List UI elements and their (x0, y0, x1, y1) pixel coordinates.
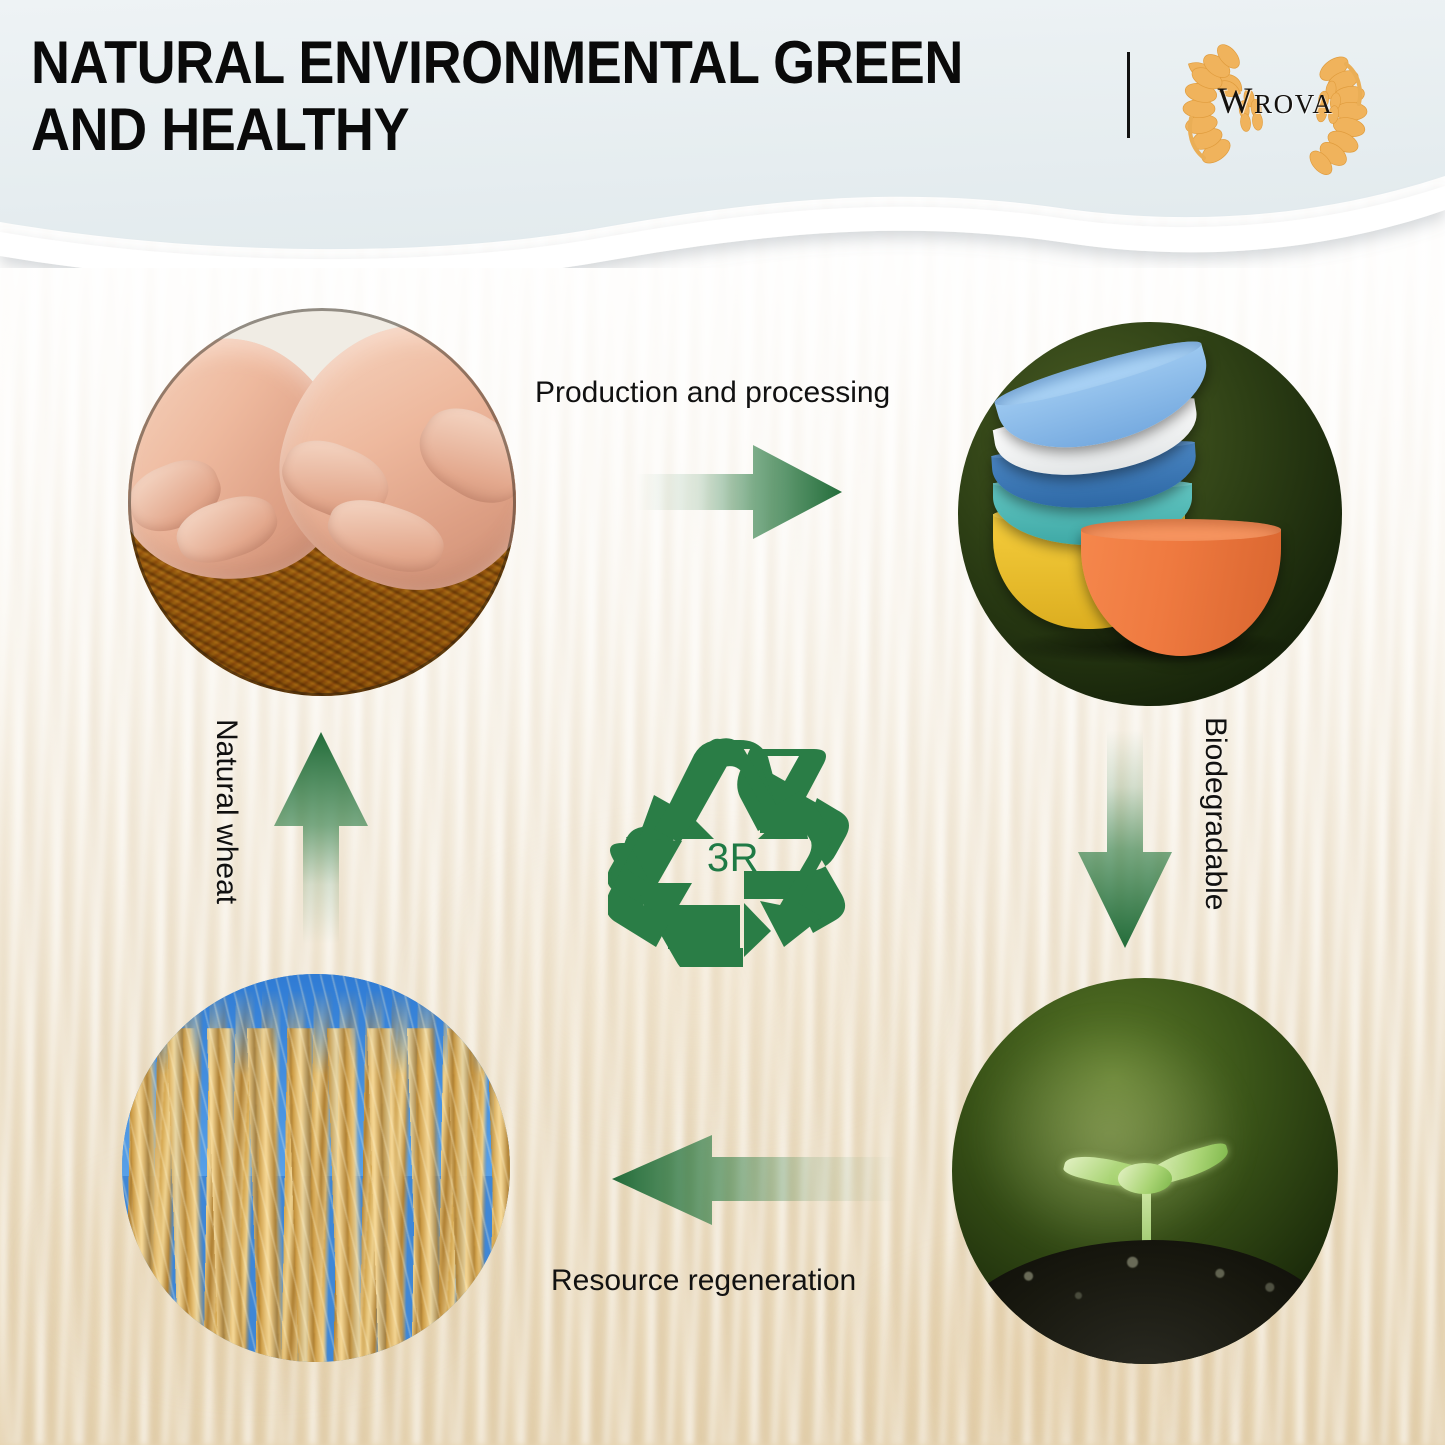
poster: 3R NATURAL ENVIRONMENTAL GREEN AND HEALT… (0, 0, 1445, 1445)
label-production-and-processing: Production and processing (535, 376, 890, 410)
arrow-right-icon (636, 443, 842, 541)
brand-logo[interactable]: WROVA (1163, 20, 1388, 200)
wheat-awns (122, 974, 510, 1362)
label-natural-wheat: Natural wheat (209, 719, 243, 904)
green-seedling-in-soil-photo (952, 978, 1338, 1364)
sunlight-glow (975, 1017, 1245, 1256)
arrow-left-icon (612, 1133, 898, 1233)
arrow-down-icon (1076, 730, 1174, 948)
recycle-3r-label: 3R (608, 735, 856, 967)
sprout-leaf-center (1118, 1163, 1172, 1194)
label-resource-regeneration: Resource regeneration (551, 1264, 856, 1298)
soil-specks (952, 1240, 1338, 1364)
page-title: NATURAL ENVIRONMENTAL GREEN AND HEALTHY (31, 29, 985, 163)
hands-holding-wheat-grain-photo (128, 308, 516, 696)
recycle-icon: 3R (608, 735, 856, 967)
brand-name: WROVA (1163, 80, 1388, 123)
photo-edge (128, 308, 516, 696)
header-divider (1127, 52, 1130, 138)
golden-wheat-field-photo (122, 974, 510, 1362)
stacked-wheat-straw-bowls-photo (958, 322, 1342, 706)
arrow-up-icon (272, 732, 370, 944)
label-biodegradable: Biodegradable (1198, 717, 1232, 911)
